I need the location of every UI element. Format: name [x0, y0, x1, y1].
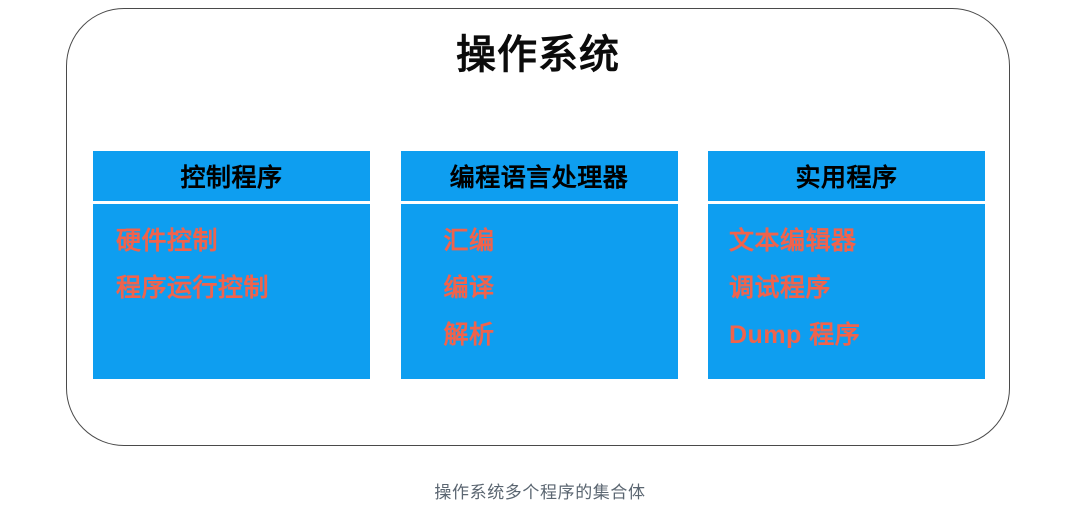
program-group-item: 解析 [444, 312, 678, 359]
program-group-item: 调试程序 [729, 265, 985, 312]
diagram-caption: 操作系统多个程序的集合体 [0, 478, 1080, 503]
program-group-utility: 实用程序 文本编辑器 调试程序 Dump 程序 [708, 151, 985, 379]
program-group-language-processor: 编程语言处理器 汇编 编译 解析 [401, 151, 678, 379]
operating-system-container: 操作系统 控制程序 硬件控制 程序运行控制 编程语言处理器 汇编 编译 解析 实… [66, 8, 1010, 446]
program-groups-row: 控制程序 硬件控制 程序运行控制 编程语言处理器 汇编 编译 解析 实用程序 文… [93, 151, 985, 379]
program-group-item: 程序运行控制 [116, 265, 370, 312]
program-group-items: 硬件控制 程序运行控制 [93, 204, 370, 379]
program-group-item: 编译 [444, 265, 678, 312]
program-group-item: 汇编 [444, 218, 678, 265]
program-group-item: Dump 程序 [729, 312, 985, 359]
program-group-items: 文本编辑器 调试程序 Dump 程序 [708, 204, 985, 379]
program-group-header: 实用程序 [708, 151, 985, 204]
program-group-control: 控制程序 硬件控制 程序运行控制 [93, 151, 370, 379]
program-group-header: 编程语言处理器 [401, 151, 678, 204]
program-group-item: 硬件控制 [116, 218, 370, 265]
program-group-item: 文本编辑器 [729, 218, 985, 265]
program-group-items: 汇编 编译 解析 [401, 204, 678, 379]
diagram-title: 操作系统 [67, 31, 1009, 79]
program-group-header: 控制程序 [93, 151, 370, 204]
